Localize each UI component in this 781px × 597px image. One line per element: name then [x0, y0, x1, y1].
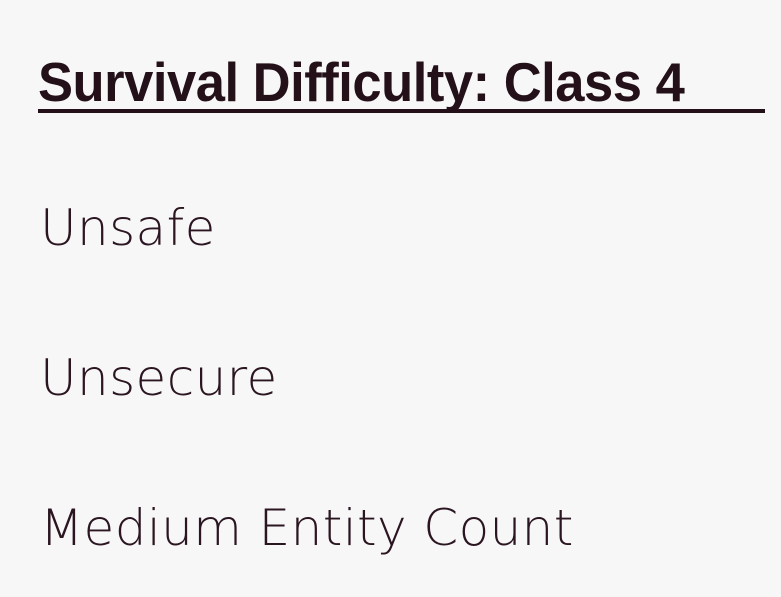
list-item: Unsafe — [40, 199, 760, 349]
page-title-block: Survival Difficulty: Class 4 — [38, 52, 768, 112]
list-item: Unsecure — [40, 349, 760, 499]
title-underline-rule — [38, 109, 765, 113]
list-item: Medium Entity Count — [40, 499, 760, 557]
page-title: Survival Difficulty: Class 4 — [38, 52, 735, 112]
survival-difficulty-panel: Survival Difficulty: Class 4 Unsafe Unse… — [0, 0, 781, 597]
attribute-list: Unsafe Unsecure Medium Entity Count — [40, 199, 760, 557]
